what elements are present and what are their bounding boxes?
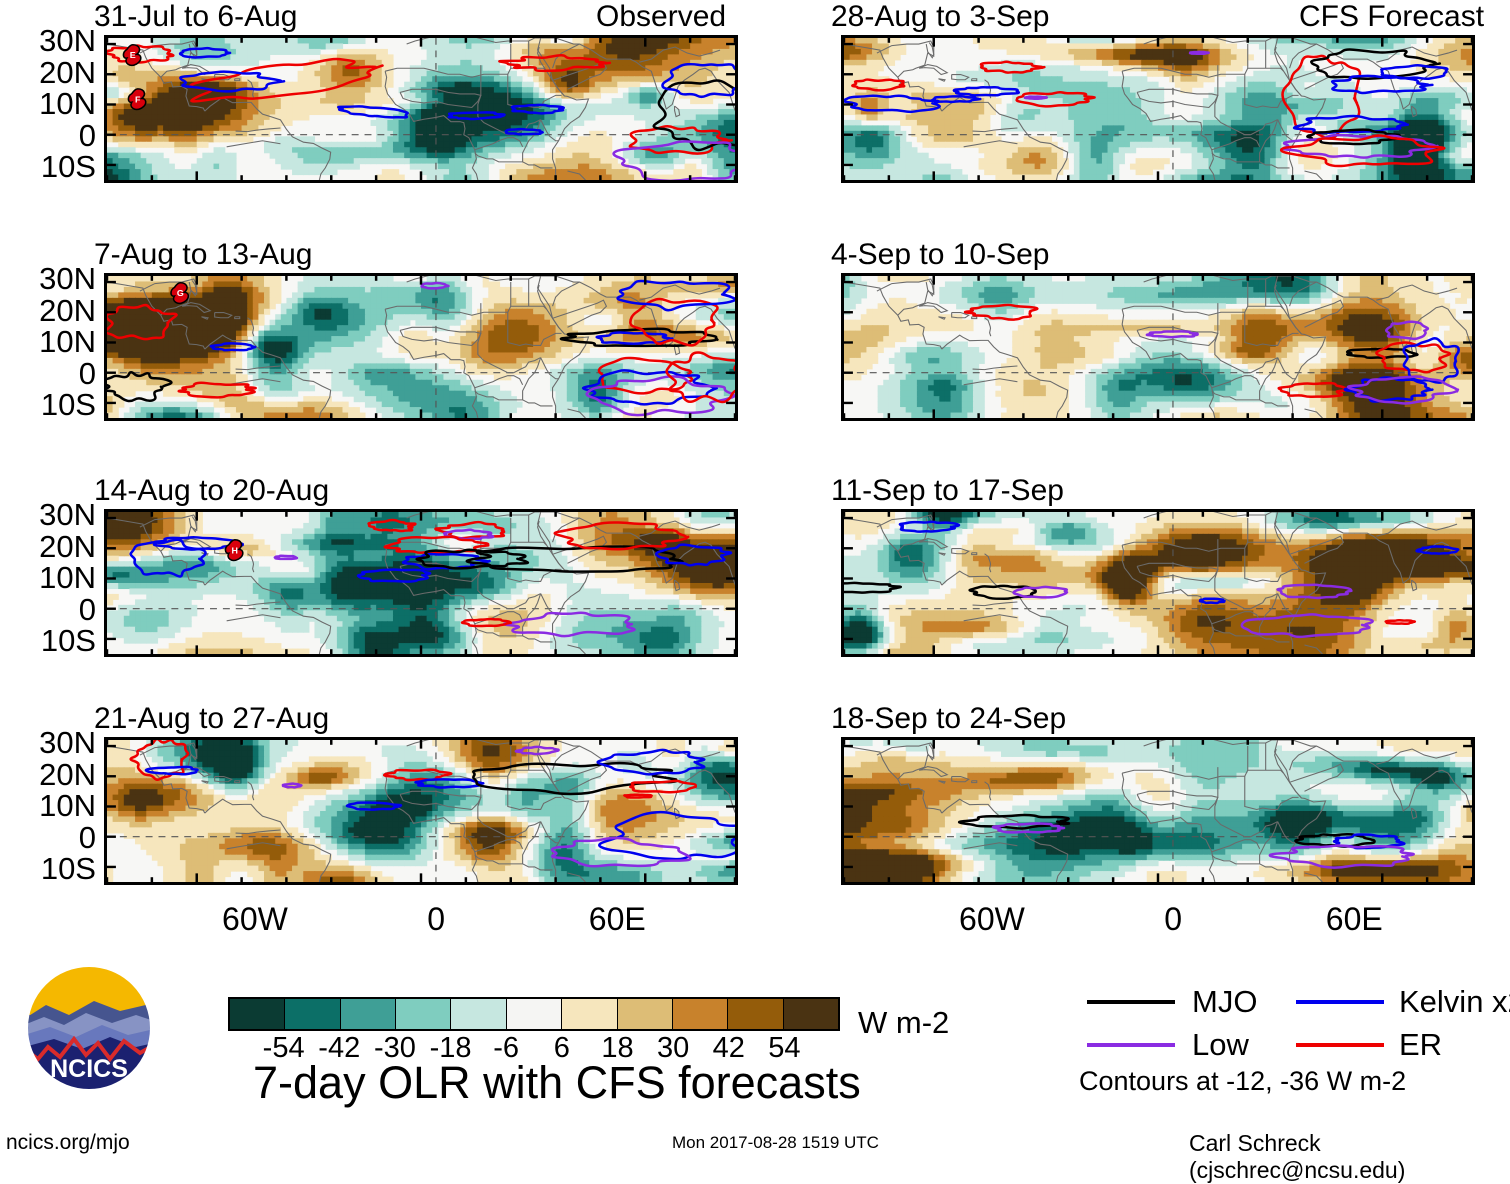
svg-text:E: E (130, 50, 136, 60)
legend-label-mjo: MJO (1192, 986, 1257, 1017)
footer-author: Carl Schreck (cjschrec@ncsu.edu) (1189, 1130, 1510, 1184)
map-canvas-fcst-1 (841, 35, 1475, 183)
column-label-forecast: CFS Forecast (1299, 2, 1484, 32)
x-axis-label: 0 (1103, 903, 1243, 935)
y-axis-label: 30N (0, 499, 96, 530)
y-axis-label: 10N (0, 562, 96, 593)
y-axis-label: 20N (0, 57, 96, 88)
panel-title: 28-Aug to 3-Sep (831, 2, 1049, 32)
map-canvas-fcst-4 (841, 737, 1475, 885)
legend-label-kelvin: Kelvin x2 (1399, 986, 1510, 1017)
legend-label-er: ER (1399, 1029, 1442, 1060)
x-axis-label: 60E (1284, 903, 1424, 935)
y-axis-label: 30N (0, 263, 96, 294)
y-axis-label: 10S (0, 151, 96, 182)
colorbar-swatch-0 (230, 999, 285, 1029)
legend-label-low: Low (1192, 1029, 1249, 1060)
map-canvas-fcst-2 (841, 273, 1475, 421)
panel-title: 14-Aug to 20-Aug (94, 476, 329, 506)
y-axis-label: 20N (0, 531, 96, 562)
column-label-observed: Observed (596, 2, 726, 32)
colorbar-swatch-9 (728, 999, 783, 1029)
footer-link[interactable]: ncics.org/mjo (6, 1131, 130, 1155)
contour-note: Contours at -12, -36 W m-2 (1079, 1066, 1406, 1097)
y-axis-label: 0 (0, 822, 96, 853)
y-axis-label: 10S (0, 389, 96, 420)
map-canvas-fcst-3 (841, 509, 1475, 657)
colorbar-swatch-2 (341, 999, 396, 1029)
x-axis-label: 60E (547, 903, 687, 935)
x-axis-label: 60W (185, 903, 325, 935)
panel-title: 11-Sep to 17-Sep (831, 476, 1064, 506)
colorbar-swatch-10 (784, 999, 838, 1029)
y-axis-label: 30N (0, 727, 96, 758)
y-axis-label: 10S (0, 853, 96, 884)
y-axis-label: 10N (0, 88, 96, 119)
colorbar-swatch-5 (507, 999, 562, 1029)
y-axis-label: 20N (0, 295, 96, 326)
colorbar-units: W m-2 (858, 1005, 949, 1041)
panel-title: 18-Sep to 24-Sep (831, 704, 1066, 734)
y-axis-label: 0 (0, 594, 96, 625)
y-axis-label: 20N (0, 759, 96, 790)
colorbar-swatch-8 (673, 999, 728, 1029)
panel-title: 4-Sep to 10-Sep (831, 240, 1049, 270)
logo-text: NCICS (50, 1055, 128, 1083)
main-title: 7-day OLR with CFS forecasts (253, 1060, 861, 1105)
footer-timestamp: Mon 2017-08-28 1519 UTC (672, 1133, 879, 1153)
legend-line-er (1296, 1043, 1384, 1047)
y-axis-label: 0 (0, 120, 96, 151)
ncics-logo: NCICS (24, 963, 154, 1093)
map-canvas-obs-1: EF (104, 35, 738, 183)
legend-line-mjo (1087, 1000, 1175, 1004)
y-axis-label: 0 (0, 358, 96, 389)
map-canvas-obs-3: H (104, 509, 738, 657)
y-axis-label: 30N (0, 25, 96, 56)
panel-title: 7-Aug to 13-Aug (94, 240, 312, 270)
y-axis-label: 10N (0, 790, 96, 821)
legend-line-low (1087, 1043, 1175, 1047)
panel-title: 31-Jul to 6-Aug (94, 2, 297, 32)
x-axis-label: 0 (366, 903, 506, 935)
y-axis-label: 10N (0, 326, 96, 357)
y-axis-label: 10S (0, 625, 96, 656)
svg-text:F: F (135, 94, 141, 104)
colorbar-swatch-7 (618, 999, 673, 1029)
colorbar-swatch-4 (451, 999, 506, 1029)
colorbar-swatch-6 (562, 999, 617, 1029)
map-canvas-obs-4 (104, 737, 738, 885)
map-canvas-obs-2: G (104, 273, 738, 421)
colorbar-swatch-3 (396, 999, 451, 1029)
legend-line-kelvin (1296, 1000, 1384, 1004)
panel-title: 21-Aug to 27-Aug (94, 704, 329, 734)
colorbar-swatch-1 (285, 999, 340, 1029)
colorbar (228, 997, 840, 1031)
x-axis-label: 60W (922, 903, 1062, 935)
